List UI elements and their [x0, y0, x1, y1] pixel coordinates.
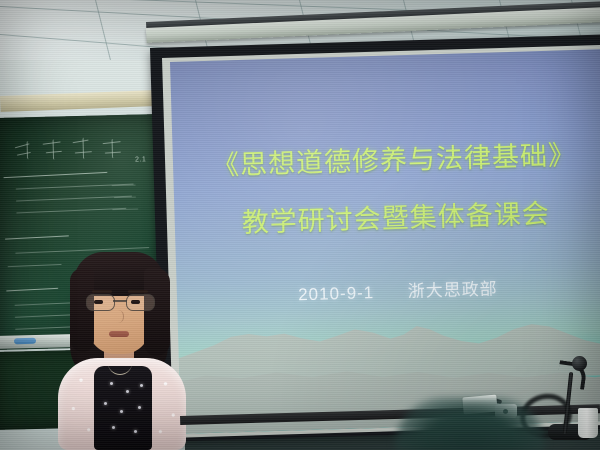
mouth [109, 331, 129, 337]
sequin [120, 410, 123, 413]
glasses-bridge [113, 300, 127, 302]
sequin [104, 402, 107, 405]
eye-left [94, 300, 103, 304]
sequin [138, 406, 141, 409]
slide-date: 2010-9-1 [298, 283, 375, 304]
eyebrow-left [92, 290, 112, 293]
slide-title-line-2: 教学研讨会暨集体备课会 [174, 199, 600, 239]
blue-marker [14, 338, 36, 345]
microphone-head-icon [572, 356, 587, 371]
subtitle-spacer [380, 297, 402, 298]
black-top [94, 366, 152, 450]
sequin [134, 430, 137, 433]
presenter [52, 248, 192, 450]
projected-slide: 《思想道德修养与法律基础》 教学研讨会暨集体备课会 2010-9-1 浙大思政部 [170, 49, 600, 434]
audience-head-blurred [395, 398, 545, 450]
paper-cup [578, 408, 598, 438]
slide-organization: 浙大思政部 [407, 279, 498, 301]
classroom-photo: 2.1 《思想道德修养与法律基础》 教 [0, 0, 600, 450]
sequin [112, 426, 115, 429]
slide-title-line-1: 《思想道德修养与法律基础》 [173, 141, 600, 181]
sequin [110, 382, 113, 385]
sequin [126, 390, 129, 393]
hair-right [144, 268, 170, 356]
blackboard-heading-chalk [13, 137, 130, 166]
sequin [140, 384, 143, 387]
eyebrow-right [128, 290, 148, 293]
eye-right [131, 300, 140, 304]
